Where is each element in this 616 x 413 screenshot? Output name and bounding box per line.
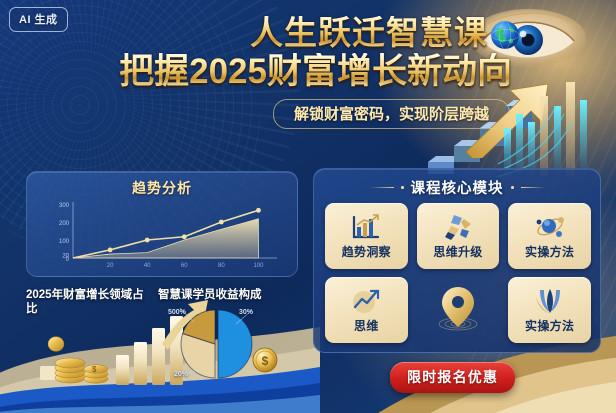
svg-text:300: 300: [59, 203, 70, 209]
svg-text:$: $: [262, 354, 269, 368]
gold-coins-icon: $: [36, 330, 126, 385]
pie-label-2: 20%: [174, 371, 188, 378]
leaf-method-icon: [534, 287, 566, 315]
page-subtitle: 解锁财富密码，实现阶层跨越: [273, 99, 510, 129]
header-rule-left: [370, 187, 394, 188]
module-card-trend-insight[interactable]: 趋势洞察: [325, 203, 408, 269]
puzzle-mind-icon: [442, 213, 474, 241]
globe-icon: [490, 20, 520, 50]
svg-text:60: 60: [181, 263, 188, 269]
svg-text:$: $: [92, 365, 97, 374]
student-income-heading: 智慧课学员收益构成: [158, 288, 298, 302]
atom-method-icon: [534, 213, 566, 241]
module-card-location[interactable]: [417, 277, 500, 343]
module-label: 实操方法: [525, 317, 574, 334]
headline-block: 人生跃迁智慧课 把握2025财富增长新动向 解锁财富密码，实现阶层跨越: [0, 16, 616, 129]
ascending-steps-icon: [426, 82, 556, 178]
header-dot-right: [511, 186, 514, 189]
module-card-practice-method-1[interactable]: 实操方法: [508, 203, 591, 269]
modules-grid: 趋势洞察 思维升级: [325, 203, 591, 343]
module-label: 思维升级: [433, 243, 482, 260]
promo-badge[interactable]: 限时报名优惠: [390, 362, 515, 393]
core-modules-panel: 课程核心模块 趋势洞察: [313, 168, 601, 353]
trend-line-chart: 02010020030020406080100: [39, 198, 287, 272]
trend-analysis-card: 趋势分析 02010020030020406080100: [26, 171, 298, 277]
module-label: 思维: [354, 317, 379, 334]
eye-icon: [468, 8, 588, 70]
pie-label-1: 30%: [239, 309, 253, 316]
svg-text:200: 200: [59, 221, 70, 227]
trend-card-title: 趋势分析: [27, 172, 297, 198]
svg-text:40: 40: [144, 263, 151, 269]
svg-text:20: 20: [62, 253, 69, 259]
location-pin-icon: [435, 283, 481, 335]
svg-text:100: 100: [253, 263, 264, 269]
dollar-coin-icon: $: [252, 347, 278, 373]
panel-header: 课程核心模块: [314, 169, 600, 198]
growth-arrow-icon: [462, 78, 552, 158]
bar-chart-insight-icon: [350, 213, 382, 241]
cyan-bar-streaks: [498, 70, 608, 180]
svg-text:20: 20: [107, 263, 114, 269]
header-rule-right: [521, 187, 545, 188]
page-title-line2: 把握2025财富增长新动向: [119, 53, 520, 90]
wealth-growth-heading: 2025年财富增长领域占比: [26, 288, 146, 317]
header-dot-left: [401, 186, 404, 189]
svg-text:80: 80: [218, 263, 225, 269]
ai-generated-badge: AI 生成: [9, 7, 68, 32]
panel-title: 课程核心模块: [411, 177, 504, 198]
pie-label-0: 500%: [168, 309, 186, 316]
module-card-practice-method-2[interactable]: 实操方法: [508, 277, 591, 343]
module-label: 趋势洞察: [342, 243, 391, 260]
module-card-mindset[interactable]: 思维: [325, 277, 408, 343]
module-card-mind-upgrade[interactable]: 思维升级: [417, 203, 500, 269]
page-title-line1: 人生跃迁智慧课: [250, 16, 488, 51]
line-growth-icon: [350, 287, 382, 315]
module-label: 实操方法: [525, 243, 574, 260]
poster-canvas: AI 生成 人生跃迁智慧课 把握2025财富增长新动向 解锁财富密码，实现阶层跨…: [0, 0, 616, 413]
svg-text:100: 100: [59, 239, 70, 245]
